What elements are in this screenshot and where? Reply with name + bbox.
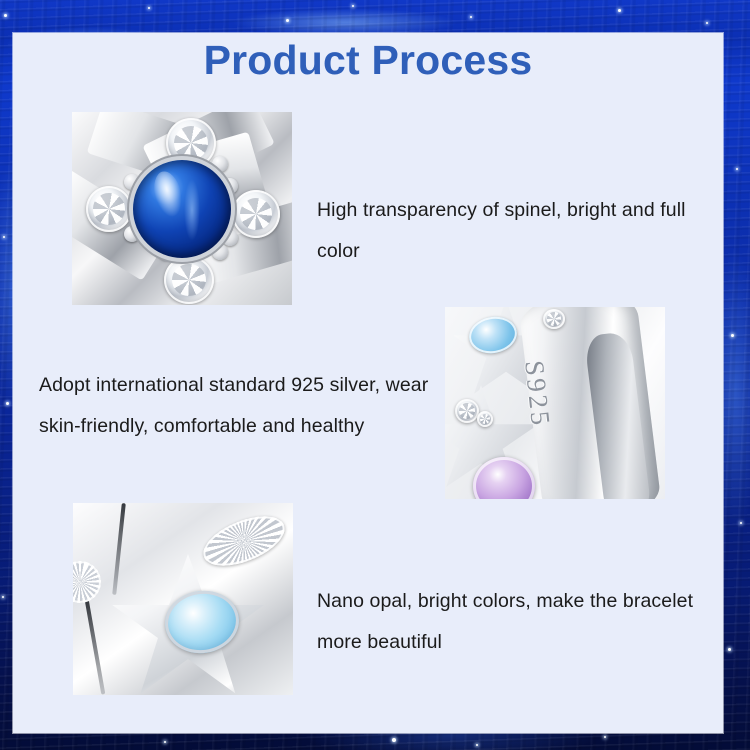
prong — [212, 244, 228, 260]
prong — [212, 156, 228, 172]
cz-stone-left — [86, 186, 132, 232]
product-photo-nano-opal — [73, 503, 293, 695]
feature-caption-silver: Adopt international standard 925 silver,… — [39, 365, 451, 447]
content-panel: Product Process — [13, 33, 723, 733]
cz-accent — [455, 399, 479, 423]
product-photo-spinel — [72, 112, 292, 305]
cz-accent — [477, 411, 493, 427]
feature-caption-opal: Nano opal, bright colors, make the brace… — [317, 581, 699, 663]
product-photo-s925: S925 — [445, 307, 665, 499]
poster-background: Product Process — [0, 0, 750, 750]
blue-spinel-gemstone — [133, 160, 231, 258]
feature-caption-spinel: High transparency of spinel, bright and … — [317, 190, 699, 272]
page-title: Product Process — [13, 38, 723, 83]
cz-stone-right — [232, 190, 280, 238]
cz-stone-bottom — [164, 256, 214, 304]
cz-accent — [543, 309, 565, 329]
